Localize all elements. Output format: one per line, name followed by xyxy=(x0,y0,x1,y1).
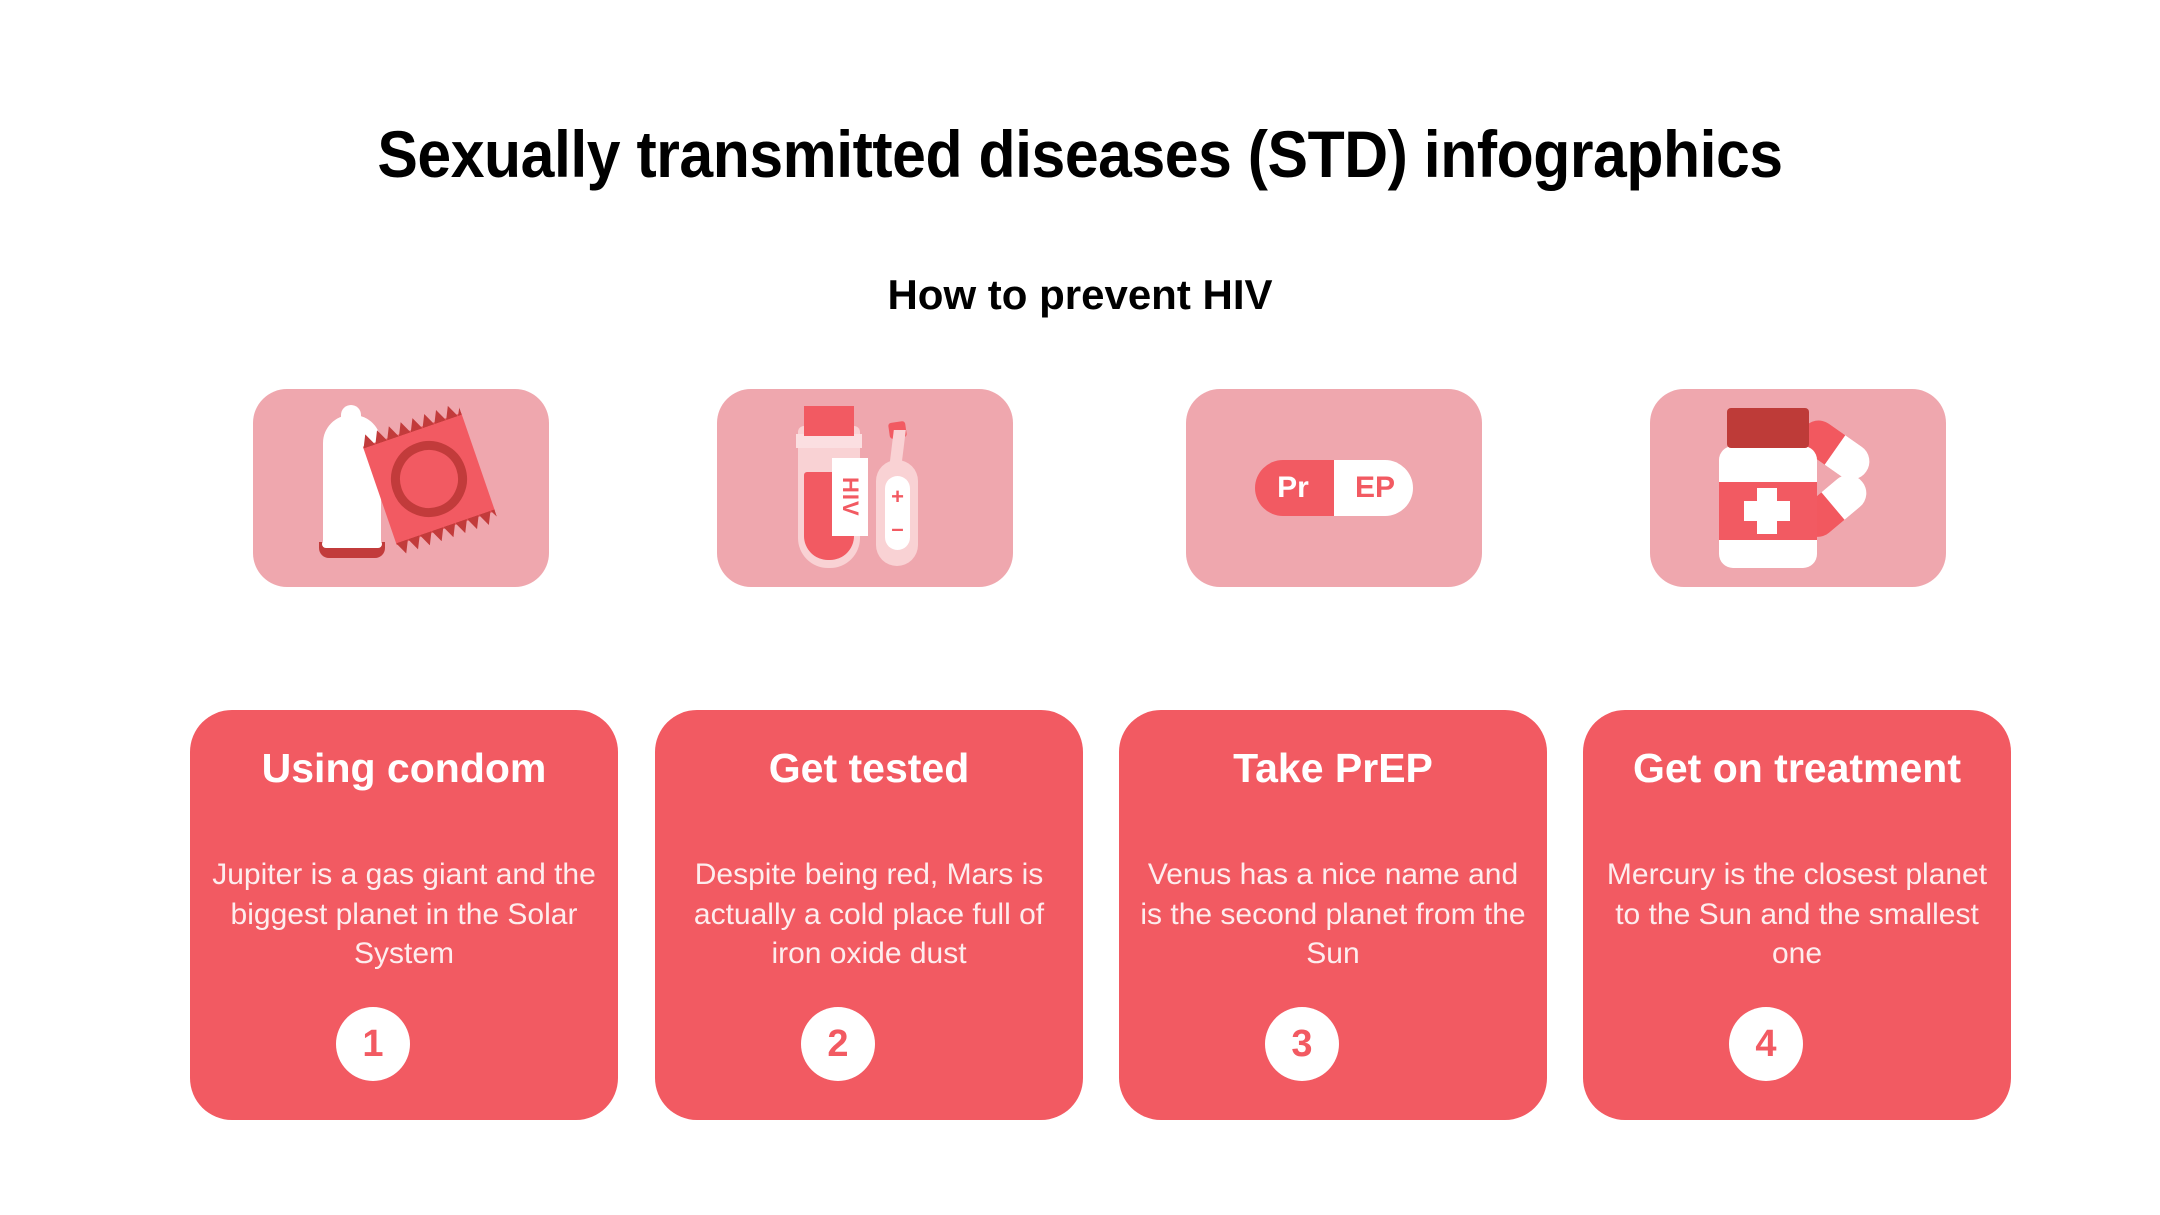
test-tube-label-text: HIV xyxy=(839,477,861,517)
step-card-title: Get tested xyxy=(675,746,1063,792)
step-card-title: Using condom xyxy=(210,746,598,792)
condom-wrapper-shape xyxy=(363,413,495,545)
icon-tile-prep[interactable]: Pr EP xyxy=(1186,389,1482,587)
swab-negative-label: – xyxy=(891,518,903,540)
step-card-4[interactable]: Get on treatment Mercury is the closest … xyxy=(1583,710,2011,1120)
icon-tile-medicine-bottle[interactable] xyxy=(1650,389,1946,587)
bottle-cross-icon-bar xyxy=(1744,501,1790,521)
test-tube-collar-shape xyxy=(796,434,862,448)
swab-positive-label: + xyxy=(891,486,904,508)
step-number-badge: 1 xyxy=(336,1007,410,1081)
step-card-3[interactable]: Take PrEP Venus has a nice name and is t… xyxy=(1119,710,1547,1120)
step-card-body: Mercury is the closest planet to the Sun… xyxy=(1601,855,1993,974)
step-card-body: Jupiter is a gas giant and the biggest p… xyxy=(208,855,600,974)
bottle-cap-shape xyxy=(1727,408,1809,448)
icon-tile-blood-test[interactable]: HIV + – xyxy=(717,389,1013,587)
condom-icon xyxy=(253,389,549,587)
icon-tile-condom[interactable] xyxy=(253,389,549,587)
step-card-title: Get on treatment xyxy=(1603,746,1991,792)
condom-ring-shape xyxy=(319,542,385,558)
step-card-2[interactable]: Get tested Despite being red, Mars is ac… xyxy=(655,710,1083,1120)
page-title: Sexually transmitted diseases (STD) info… xyxy=(86,118,2073,191)
step-card-body: Venus has a nice name and is the second … xyxy=(1137,855,1529,974)
test-tube-label: HIV xyxy=(832,458,868,536)
medicine-bottle-icon xyxy=(1650,389,1946,587)
slide-canvas: Sexually transmitted diseases (STD) info… xyxy=(0,0,2160,1215)
hiv-blood-test-icon: HIV + – xyxy=(717,389,1013,587)
step-card-1[interactable]: Using condom Jupiter is a gas giant and … xyxy=(190,710,618,1120)
test-tube-cap-shape xyxy=(804,406,854,436)
page-subtitle: How to prevent HIV xyxy=(0,272,2160,318)
condom-body-shape xyxy=(323,415,381,551)
step-number-badge: 3 xyxy=(1265,1007,1339,1081)
step-number-badge: 2 xyxy=(801,1007,875,1081)
step-card-body: Despite being red, Mars is actually a co… xyxy=(673,855,1065,974)
prep-capsule-right-label: EP xyxy=(1334,460,1413,516)
swab-result-window: + – xyxy=(885,476,910,550)
step-card-title: Take PrEP xyxy=(1139,746,1527,792)
prep-capsule-icon: Pr EP xyxy=(1186,389,1482,587)
prep-capsule-left-label: Pr xyxy=(1255,460,1334,516)
step-number-badge: 4 xyxy=(1729,1007,1803,1081)
